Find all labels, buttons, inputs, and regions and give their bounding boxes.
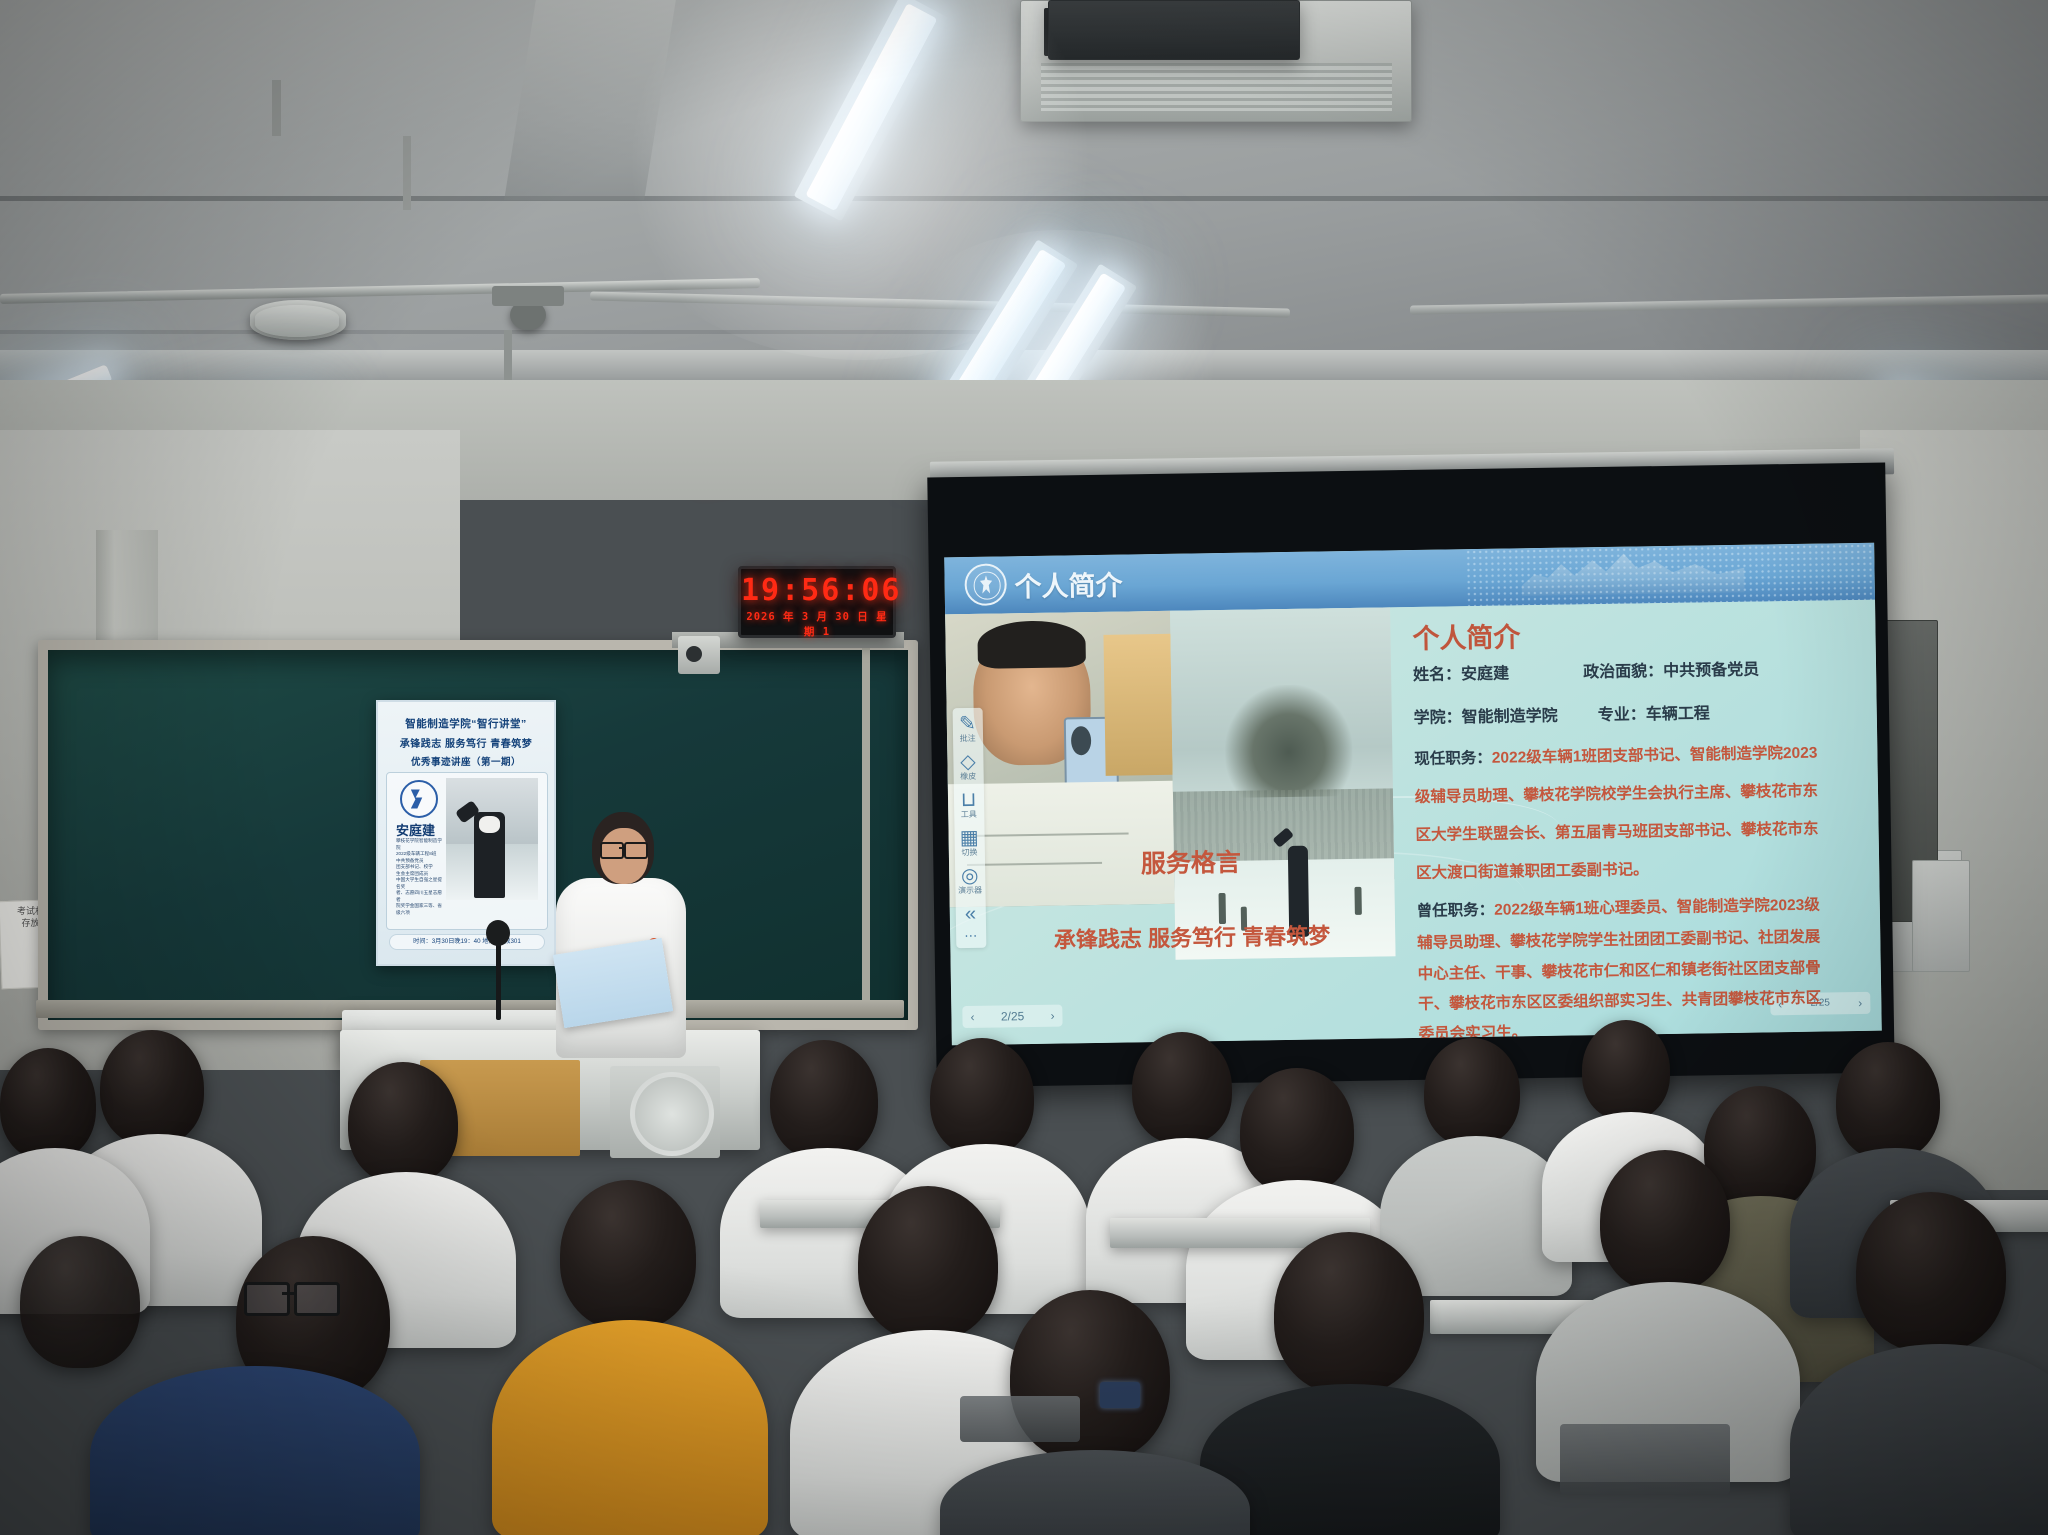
poster-footer: 时间：3月30日晚19：40 地点：2教301 (389, 934, 546, 950)
audience-head (1274, 1232, 1424, 1394)
past-positions-line-3: 中心主任、干事、攀枝花市仁和区仁和镇老街社区团支部骨 (1417, 956, 1820, 984)
audience-glasses-right (294, 1282, 340, 1316)
poster-line-3: 优秀事迹讲座（第一期） (378, 754, 554, 768)
audience-head (1856, 1192, 2006, 1352)
slide-header-title: 个人简介 (1014, 564, 1123, 605)
ceiling-seam (0, 330, 1030, 334)
chevron-right-icon[interactable]: › (1858, 996, 1862, 1010)
audience-shoulders (492, 1320, 768, 1535)
projector-mount-rod (403, 136, 411, 210)
eraser-icon[interactable]: ◇ 橡皮 (953, 752, 983, 782)
audience-head (858, 1186, 998, 1340)
layers-icon[interactable]: ◎ 演示器 (955, 866, 985, 896)
ppt-page-indicator: 2/25 (1001, 1009, 1025, 1023)
ceiling-seam (0, 196, 2048, 201)
chair-back (1560, 1424, 1730, 1494)
poster-bio: 攀枝花学院智能制造学院 2022级车辆工程8班 中共预备党员 团支部书记、校学 … (396, 838, 442, 916)
microphone-head (486, 920, 510, 946)
smartphone (1100, 1382, 1140, 1408)
poster-line-2: 承锋践志 服务笃行 青春筑梦 (378, 735, 554, 750)
speaker-glasses-bridge (619, 847, 625, 849)
audience-glasses-left (244, 1282, 290, 1316)
audience-head (930, 1038, 1034, 1156)
motto-text: 承锋践志 服务笃行 青春筑梦 (978, 917, 1406, 956)
audience-head (1240, 1068, 1354, 1194)
audience-head (1132, 1032, 1232, 1144)
speaker-glasses-left (600, 842, 624, 859)
event-poster: 智能制造学院“智行讲堂” 承锋践志 服务笃行 青春筑梦 优秀事迹讲座（第一期） … (376, 700, 556, 966)
motto-title: 服务格言 (1005, 840, 1378, 882)
pen-icon[interactable]: ✎ 批注 (952, 714, 982, 744)
poster-person (474, 812, 505, 897)
field-name: 姓名：安庭建 (1413, 659, 1509, 685)
field-college: 学院：智能制造学院 (1413, 701, 1557, 727)
poster-photo (446, 778, 538, 900)
current-positions-line-4: 区大渡口街道兼职团工委副书记。 (1416, 857, 1649, 883)
audience-head (560, 1180, 696, 1330)
audience-head (20, 1236, 140, 1368)
ppt-nav[interactable]: ‹ 2/25 › (962, 1004, 1062, 1028)
audience-glasses-bridge (282, 1292, 296, 1295)
clock-date: 2026 年 3 月 30 日 星期 1 (741, 609, 893, 639)
school-logo-icon (400, 780, 438, 818)
current-positions-line-1: 现任职务：2022级车辆1班团支部书记、智能制造学院2023 (1414, 741, 1817, 769)
audience-head (770, 1040, 878, 1160)
clock-time: 19:56:06 (741, 573, 893, 608)
slide-photo-snow (1170, 607, 1395, 960)
audience-shoulders (90, 1366, 420, 1535)
speaker-glasses-right (624, 842, 648, 859)
current-positions-line-2: 级辅导员助理、攀枝花学院校学生会执行主席、攀枝花市东 (1415, 779, 1818, 807)
blackboard-divider (862, 648, 870, 1004)
digital-clock: 19:56:06 2026 年 3 月 30 日 星期 1 (738, 566, 896, 638)
grid-icon[interactable]: ▦ 切换 (954, 828, 984, 858)
collapse-icon[interactable]: « (955, 904, 985, 924)
slide-section-title: 个人简介 (1412, 616, 1521, 657)
poster-line-1: 智能制造学院“智行讲堂” (378, 716, 554, 731)
audience-head (348, 1062, 458, 1184)
school-seal-icon (965, 563, 1008, 606)
air-conditioner-vent (1048, 0, 1300, 60)
wall-switch-box (1912, 860, 1970, 972)
ceiling-speaker-icon (255, 305, 339, 337)
audience-head (100, 1030, 204, 1146)
audience-head (0, 1048, 96, 1160)
chevron-left-icon[interactable]: ‹ (970, 1010, 974, 1024)
slide-body: ✎ 批注 ◇ 橡皮 ⊔ 工具 ▦ 切换 ◎ 演示器 (945, 599, 1882, 1045)
poster-speaker-name: 安庭建 (396, 820, 435, 839)
camera-bracket (492, 286, 564, 306)
audience-head (1424, 1038, 1520, 1146)
past-positions-line-4: 干、攀枝花市东区区委组织部实习生、共青团攀枝花市东区 (1418, 986, 1821, 1014)
audience-head (1582, 1020, 1670, 1120)
field-political-status: 政治面貌：中共预备党员 (1583, 655, 1759, 682)
field-major: 专业：车辆工程 (1598, 699, 1710, 725)
shelf-device (678, 636, 720, 674)
projected-slide: 个人简介 (944, 543, 1882, 1046)
tools-icon[interactable]: ⊔ 工具 (953, 790, 983, 820)
chevron-right-icon[interactable]: › (1050, 1008, 1054, 1022)
ppt-toolbar[interactable]: ✎ 批注 ◇ 橡皮 ⊔ 工具 ▦ 切换 ◎ 演示器 (952, 708, 986, 948)
audience-head (1836, 1042, 1940, 1160)
speaker-rod (272, 80, 281, 136)
chair-back (960, 1396, 1080, 1442)
classroom-photo: JBD 考试相关 存放处 智能制造学院“智行讲堂” 承锋践志 服务笃行 青春筑梦… (0, 0, 2048, 1535)
audience-head (1600, 1150, 1730, 1292)
lectern-emblem (630, 1072, 714, 1156)
